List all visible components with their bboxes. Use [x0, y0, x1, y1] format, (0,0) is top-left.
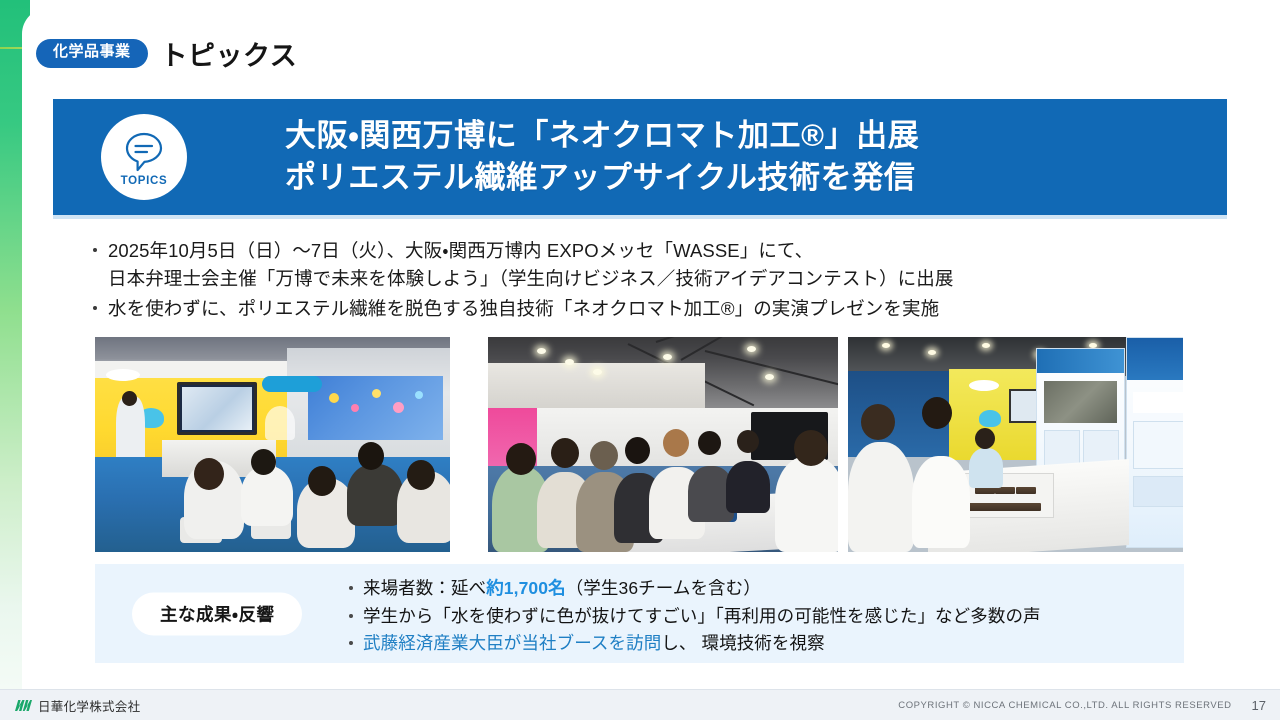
results-label-pill: 主な成果・反響: [132, 592, 302, 635]
slide: 化学品事業 トピックス TOPICS 大阪・関西万博に「ネオクロマト加工®」出展…: [0, 0, 1280, 720]
bullet-list: 2025年10月5日（日）〜7日（火）、大阪・関西万博内 EXPOメッセ「WAS…: [91, 237, 1221, 325]
footer-company-name: 日華化学株式会社: [38, 696, 140, 715]
topics-badge: TOPICS: [101, 114, 187, 200]
result-text-post: し、 環境技術を視察: [661, 633, 824, 653]
results-panel: 主な成果・反響 来場者数：延べ約1,700名（学生36チームを含む） 学生から「…: [95, 564, 1184, 663]
topic-banner: TOPICS 大阪・関西万博に「ネオクロマト加工®」出展 ポリエステル繊維アップ…: [53, 99, 1227, 215]
page-title: トピックス: [161, 34, 298, 73]
photo-row: [95, 337, 1183, 552]
category-badge: 化学品事業: [36, 39, 148, 68]
photo-crowd: [488, 337, 838, 552]
bullet-line-1: 2025年10月5日（日）〜7日（火）、大阪・関西万博内 EXPOメッセ「WAS…: [108, 240, 813, 261]
slide-footer: 日華化学株式会社 COPYRIGHT © NICCA CHEMICAL CO.,…: [0, 689, 1280, 720]
photo-booth-panels: [848, 337, 1183, 552]
topics-speech-bubble-icon: [124, 128, 164, 173]
banner-text: 大阪・関西万博に「ネオクロマト加工®」出展 ポリエステル繊維アップサイクル技術を…: [285, 115, 919, 200]
page-number: 17: [1252, 698, 1266, 713]
footer-copyright: COPYRIGHT © NICCA CHEMICAL CO.,LTD. ALL …: [898, 700, 1231, 711]
banner-line-1: 大阪・関西万博に「ネオクロマト加工®」出展: [285, 115, 919, 157]
results-list: 来場者数：延べ約1,700名（学生36チームを含む） 学生から「水を使わずに色が…: [347, 575, 1177, 658]
result-item: 武藤経済産業大臣が当社ブースを訪問し、 環境技術を視察: [347, 630, 1177, 658]
banner-line-2: ポリエステル繊維アップサイクル技術を発信: [285, 157, 919, 199]
result-highlight: 武藤経済産業大臣が当社ブースを訪問: [363, 633, 661, 653]
bullet-line-1: 水を使わずに、ポリエステル繊維を脱色する独自技術「ネオクロマト加工®」の実演プレ…: [108, 298, 939, 319]
footer-logo-group: 日華化学株式会社: [14, 696, 140, 715]
topics-label: TOPICS: [121, 175, 168, 187]
result-text-pre: 学生から「水を使わずに色が抜けてすごい」「再利用の可能性を感じた」など多数の声: [363, 606, 1041, 626]
nicca-logo-icon: [14, 699, 32, 712]
result-item: 来場者数：延べ約1,700名（学生36チームを含む）: [347, 575, 1177, 603]
slide-header: 化学品事業 トピックス: [36, 34, 297, 73]
photo-presentation: [95, 337, 450, 552]
bullet-item: 水を使わずに、ポリエステル繊維を脱色する独自技術「ネオクロマト加工®」の実演プレ…: [91, 295, 1221, 323]
footer-right: COPYRIGHT © NICCA CHEMICAL CO.,LTD. ALL …: [898, 698, 1266, 713]
bullet-item: 2025年10月5日（日）〜7日（火）、大阪・関西万博内 EXPOメッセ「WAS…: [91, 237, 1221, 293]
result-highlight: 約1,700名: [486, 578, 566, 598]
result-item: 学生から「水を使わずに色が抜けてすごい」「再利用の可能性を感じた」など多数の声: [347, 603, 1177, 631]
result-text-pre: 来場者数：延べ: [363, 578, 486, 598]
result-text-post: （学生36チームを含む）: [566, 578, 761, 598]
bullet-line-2: 日本弁理士会主催「万博で未来を体験しよう」（学生向けビジネス／技術アイデアコンテ…: [108, 265, 1221, 293]
